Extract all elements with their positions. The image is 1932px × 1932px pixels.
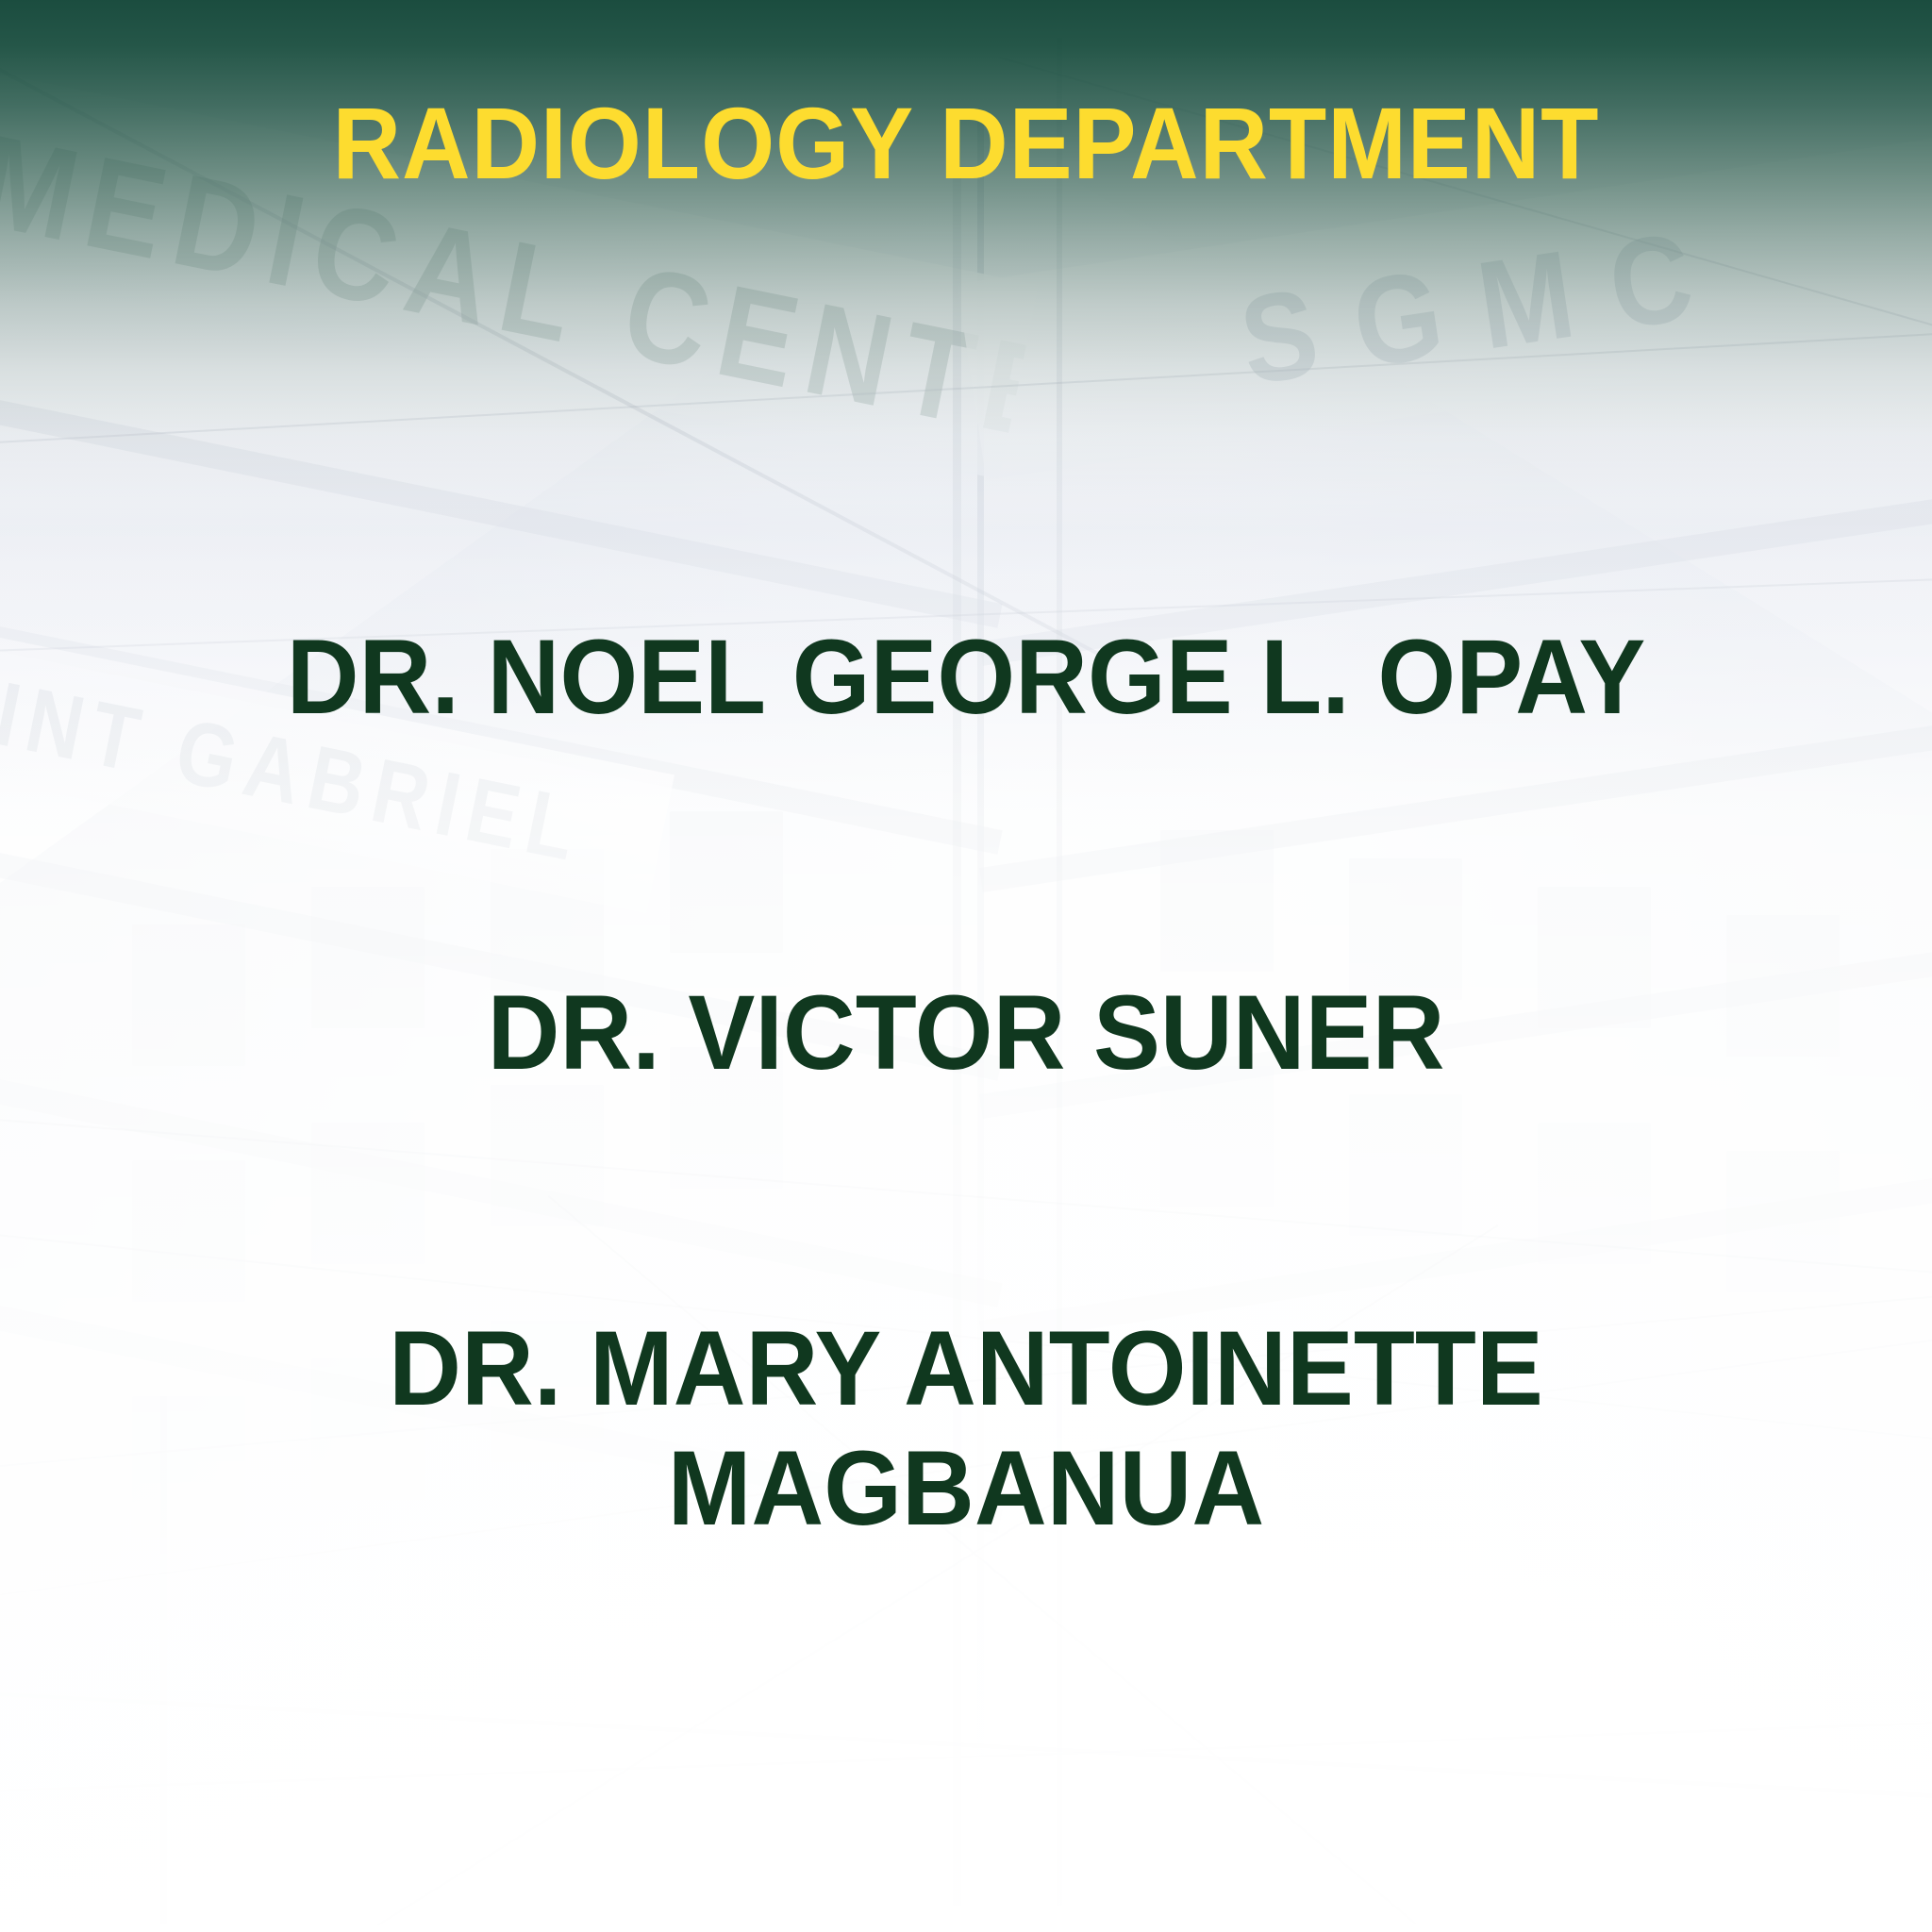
name-spacer <box>0 738 1932 974</box>
name-spacer <box>0 1092 1932 1309</box>
doctor-name: DR. VICTOR SUNER <box>48 974 1884 1093</box>
doctor-name: DR. NOEL GEORGE L. OPAY <box>48 618 1884 738</box>
page-title: RADIOLOGY DEPARTMENT <box>68 92 1865 194</box>
poster-content: RADIOLOGY DEPARTMENT DR. NOEL GEORGE L. … <box>0 0 1932 1932</box>
radiology-department-poster: MEDICAL CENTER SGMC SAINT GABRIEL <box>0 0 1932 1932</box>
doctor-name: DR. MARY ANTOINETTE MAGBANUA <box>48 1309 1884 1548</box>
doctor-name-list: DR. NOEL GEORGE L. OPAY DR. VICTOR SUNER… <box>0 618 1932 1548</box>
